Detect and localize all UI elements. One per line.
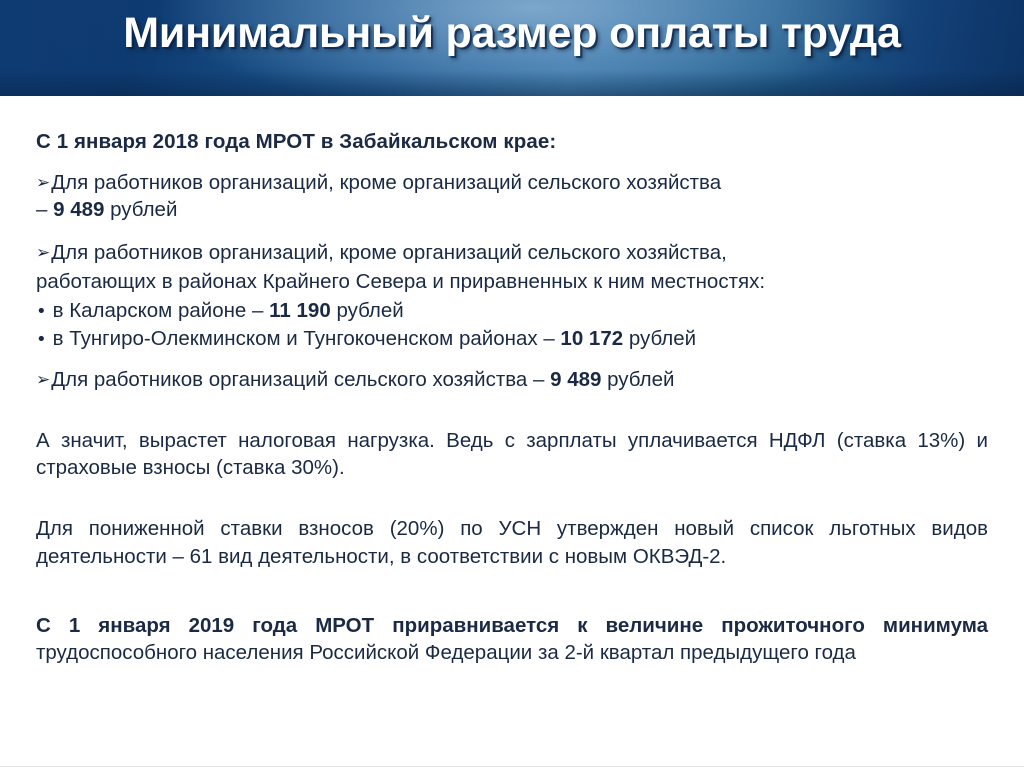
list-item-agriculture-dash: – — [533, 368, 544, 391]
list-item-north-workers-line2-row: работающих в районах Крайнего Севера и п… — [36, 268, 988, 295]
sub-item-1-unit: рублей — [629, 327, 696, 350]
section-tax-burden: А значит, вырастет налоговая нагрузка. В… — [36, 427, 988, 481]
list-item-general-workers-dash: – — [36, 198, 47, 221]
section-agriculture: ➢Для работников организаций сельского хо… — [36, 366, 988, 393]
paragraph-mrot-2019-bold: С 1 января 2019 года МРОТ приравнивается… — [36, 614, 988, 637]
sub-item-1-dash: – — [543, 327, 554, 350]
page-title: Минимальный размер оплаты труда — [0, 9, 1024, 58]
paragraph-mrot-2019-normal: трудоспособного населения Российской Фед… — [36, 641, 856, 664]
arrow-bullet-icon: ➢ — [36, 370, 50, 390]
paragraph-usn-rate: Для пониженной ставки взносов (20%) по У… — [36, 515, 988, 569]
list-item-general-workers-text: Для работников организаций, кроме органи… — [51, 171, 721, 194]
list-item-north-workers-line2: работающих в районах Крайнего Севера и п… — [36, 270, 765, 293]
lead-2018-heading: С 1 января 2018 года МРОТ в Забайкальско… — [36, 128, 988, 155]
slide-header-banner: Минимальный размер оплаты труда — [0, 0, 1024, 96]
list-item-general-workers-value: 9 489 — [53, 198, 104, 221]
list-item-general-workers: ➢Для работников организаций, кроме орган… — [36, 169, 988, 223]
section-usn-rate: Для пониженной ставки взносов (20%) по У… — [36, 515, 988, 569]
sub-item-0-prefix: в Каларском районе — [53, 299, 247, 322]
sub-item-0-value: 11 190 — [269, 299, 331, 322]
slide-body: С 1 января 2018 года МРОТ в Забайкальско… — [36, 128, 988, 666]
paragraph-tax-burden: А значит, вырастет налоговая нагрузка. В… — [36, 427, 988, 481]
sub-item-0-unit: рублей — [336, 299, 403, 322]
list-item-agriculture-unit: рублей — [607, 368, 674, 391]
section-mrot-2019: С 1 января 2019 года МРОТ приравнивается… — [36, 612, 988, 666]
sub-item-1-prefix: в Тунгиро-Олекминском и Тунгокоченском р… — [53, 327, 538, 350]
list-item-north-workers: ➢Для работников организаций, кроме орган… — [36, 239, 988, 266]
list-item-north-workers-line1: Для работников организаций, кроме органи… — [51, 241, 727, 264]
list-item: •в Каларском районе – 11 190 рублей — [36, 297, 988, 324]
dot-bullet-icon: • — [36, 301, 47, 322]
sub-item-0-dash: – — [252, 299, 263, 322]
list-item-agriculture-text: Для работников организаций сельского хоз… — [51, 368, 527, 391]
list-item-agriculture-value: 9 489 — [550, 368, 601, 391]
list-item: •в Тунгиро-Олекминском и Тунгокоченском … — [36, 325, 988, 352]
sub-item-1-value: 10 172 — [560, 327, 623, 350]
slide-root: Минимальный размер оплаты труда С 1 янва… — [0, 0, 1024, 767]
dot-bullet-icon: • — [36, 329, 47, 350]
section-north-regions: ➢Для работников организаций, кроме орган… — [36, 239, 988, 352]
list-item-general-workers-unit: рублей — [110, 198, 177, 221]
paragraph-mrot-2019: С 1 января 2019 года МРОТ приравнивается… — [36, 612, 988, 666]
arrow-bullet-icon: ➢ — [36, 173, 50, 193]
list-item-agriculture: ➢Для работников организаций сельского хо… — [36, 366, 988, 393]
section-mrot-2018: С 1 января 2018 года МРОТ в Забайкальско… — [36, 128, 988, 223]
arrow-bullet-icon: ➢ — [36, 243, 50, 263]
